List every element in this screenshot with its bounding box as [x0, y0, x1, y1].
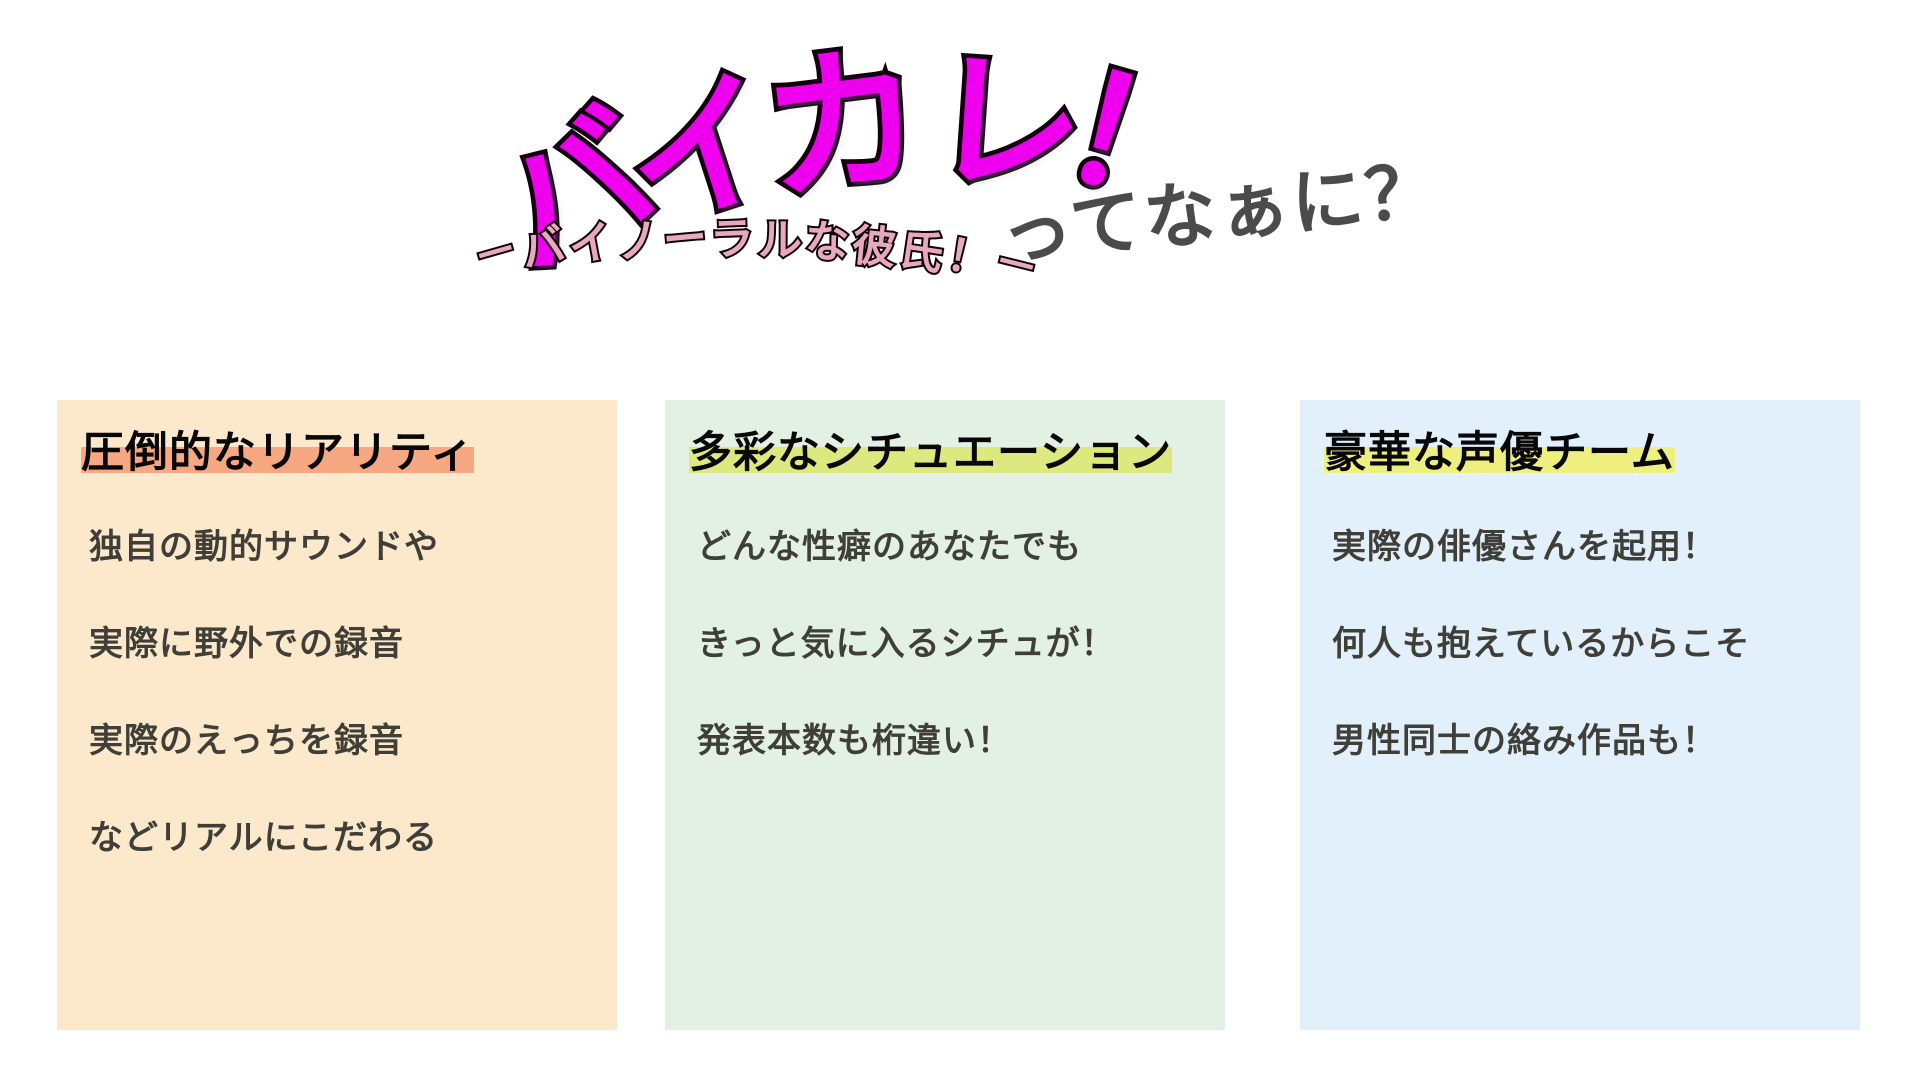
card-reality-line-0: 独自の動的サウンドや	[89, 527, 603, 568]
card-voice-cast-line-2: 男性同士の絡み作品も！	[1332, 721, 1846, 762]
subtitle: －バイノーラルな彼氏！－	[470, 196, 1090, 286]
title-char-2: カ	[754, 36, 931, 213]
subtitle-char-8: 彼	[850, 223, 898, 271]
card-situation-line-1: きっと気に入るシチュが！	[697, 624, 1211, 665]
card-reality-line-1: 実際に野外での録音	[89, 624, 603, 665]
card-reality-heading: 圧倒的なリアリティ	[81, 430, 474, 477]
subtitle-char-7: な	[804, 220, 850, 266]
card-situation-body: どんな性癖のあなたでもきっと気に入るシチュが！発表本数も桁違い！	[665, 527, 1225, 761]
card-voice-cast-body: 実際の俳優さんを起用！何人も抱えているからこそ男性同士の絡み作品も！	[1300, 527, 1860, 761]
card-reality-body: 独自の動的サウンドや実際に野外での録音実際のえっちを録音などリアルにこだわる	[57, 527, 617, 858]
card-voice-cast-heading: 豪華な声優チーム	[1324, 430, 1675, 477]
card-situation-line-0: どんな性癖のあなたでも	[697, 527, 1211, 568]
subtitle-char-3: ノ	[613, 217, 663, 267]
card-voice-cast-line-1: 何人も抱えているからこそ	[1332, 624, 1846, 665]
card-situation-heading: 多彩なシチュエーション	[689, 430, 1172, 477]
card-situation: 多彩なシチュエーションどんな性癖のあなたでもきっと気に入るシチュが！発表本数も桁…	[665, 400, 1225, 1030]
title-area: バイカレ！ －バイノーラルな彼氏！－ ってなぁに？	[0, 0, 1920, 370]
card-situation-heading-text: 多彩なシチュエーション	[689, 428, 1172, 478]
subtitle-char-10: ！	[943, 233, 995, 285]
card-reality-line-3: などリアルにこだわる	[89, 818, 603, 859]
card-voice-cast: 豪華な声優チーム実際の俳優さんを起用！何人も抱えているからこそ男性同士の絡み作品…	[1300, 400, 1860, 1030]
subtitle-char-0: －	[469, 227, 523, 281]
subtitle-char-5: ラ	[709, 217, 755, 263]
card-reality: 圧倒的なリアリティ独自の動的サウンドや実際に野外での録音実際のえっちを録音などリ…	[57, 400, 617, 1030]
card-voice-cast-line-0: 実際の俳優さんを起用！	[1332, 527, 1846, 568]
subtitle-char-4: ー	[661, 216, 709, 264]
subtitle-char-6: ル	[757, 219, 801, 263]
subtitle-char-1: バ	[517, 223, 570, 276]
feature-cards: 圧倒的なリアリティ独自の動的サウンドや実際に野外での録音実際のえっちを録音などリ…	[0, 400, 1920, 1040]
card-situation-line-2: 発表本数も桁違い！	[697, 721, 1211, 762]
card-reality-line-2: 実際のえっちを録音	[89, 721, 603, 762]
subtitle-char-9: 氏	[896, 228, 946, 278]
subtitle-char-2: イ	[565, 220, 616, 271]
card-voice-cast-heading-text: 豪華な声優チーム	[1324, 428, 1675, 478]
card-reality-heading-text: 圧倒的なリアリティ	[81, 428, 474, 478]
